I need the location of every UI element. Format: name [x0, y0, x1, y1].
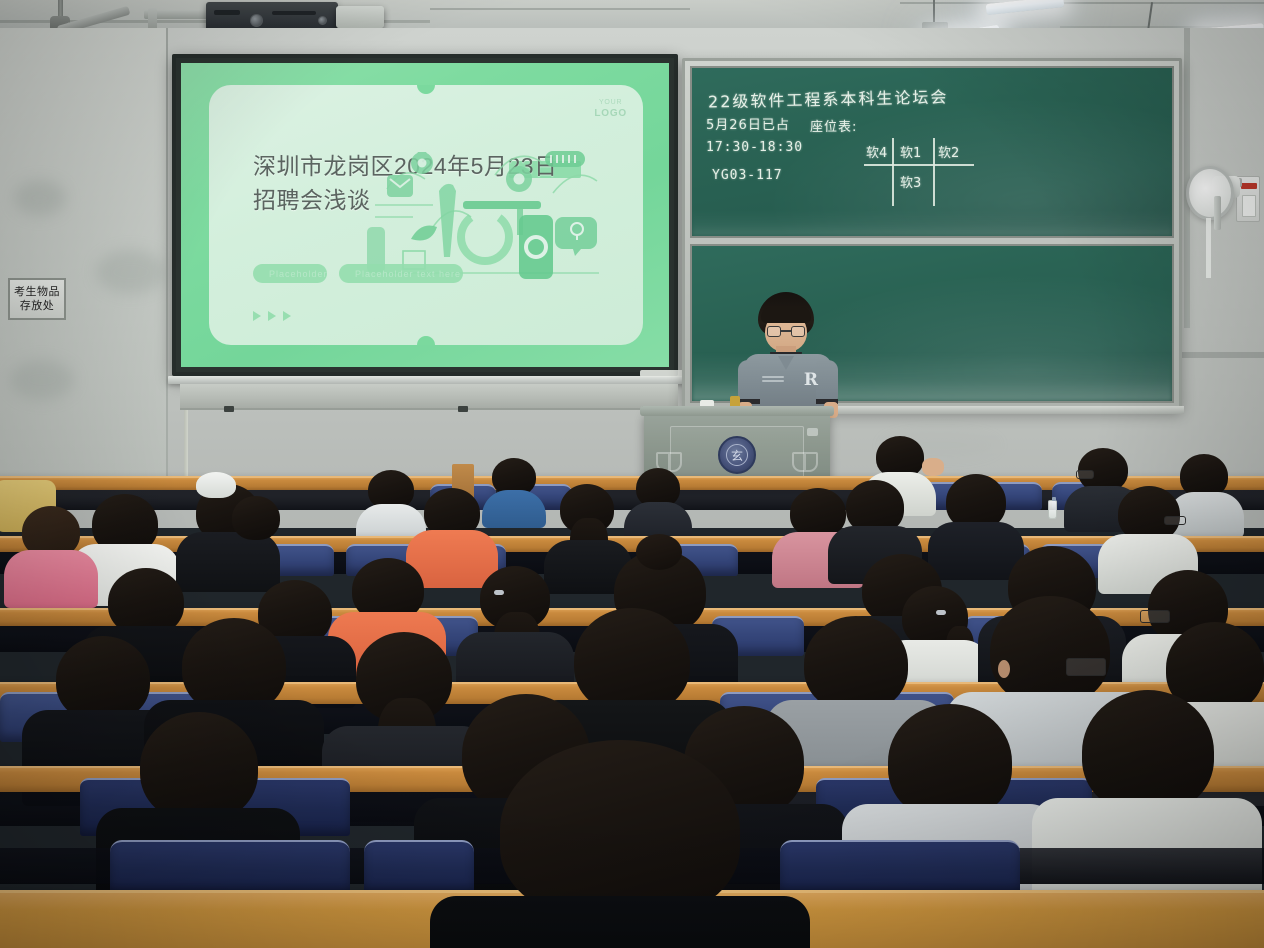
exam-storage-sign: 考生物品 存放处 — [8, 278, 66, 320]
sign-line-1: 考生物品 — [14, 285, 60, 299]
blackboard-seating-label: 座位表: — [810, 116, 857, 135]
blackboard-upper-panel: 22级软件工程系本科生论坛会 5月26日已占 17:30-18:30 YG03-… — [690, 66, 1174, 238]
wall-stain — [96, 250, 166, 294]
slide-pill-left-text: Placeholder — [269, 269, 328, 279]
presenter-shirt-logo: R — [804, 370, 818, 390]
logo-line-1: YOUR — [594, 99, 627, 108]
slide-pill-right-text: Placeholder text here — [355, 269, 461, 279]
projected-slide: YOUR LOGO 深圳市龙岗区2024年5月23日 招聘会浅谈 — [181, 63, 669, 367]
ceiling-seam — [900, 2, 1264, 4]
wall-stain — [10, 360, 74, 400]
audience-seating — [0, 440, 1264, 948]
presenter: R — [740, 292, 836, 416]
screen-rail — [180, 384, 678, 410]
lectern-knob[interactable] — [807, 428, 818, 436]
sign-line-2: 存放处 — [20, 299, 55, 313]
hair-clip — [494, 590, 504, 595]
grid-vline — [892, 138, 894, 206]
projector-bracket — [336, 6, 384, 28]
logo-line-2: LOGO — [594, 108, 627, 121]
presenter-shirt-tag — [762, 376, 784, 386]
blackboard-headline: 22级软件工程系本科生论坛会 — [708, 83, 949, 112]
chalk-tray-item — [640, 370, 686, 377]
seat-cell-1: 软4 — [866, 142, 887, 161]
presenter-glasses-icon — [767, 326, 805, 337]
projection-screen: YOUR LOGO 深圳市龙岗区2024年5月23日 招聘会浅谈 — [172, 54, 678, 376]
screen-ledge — [168, 376, 686, 384]
blackboard-date: 5月26日已占 — [706, 114, 790, 133]
slide-logo: YOUR LOGO — [594, 99, 627, 120]
seat-cell-3: 软2 — [938, 142, 959, 161]
slide-markers — [253, 311, 291, 321]
blackboard-time: 17:30-18:30 — [706, 140, 803, 155]
classroom-scene: 考生物品 存放处 YOUR LOGO 深圳市龙岗区2024年5月2 — [0, 0, 1264, 948]
seat-cell-2: 软1 — [900, 142, 921, 161]
white-cap — [196, 472, 236, 498]
grid-vline — [933, 138, 935, 206]
projector-mount-arm — [148, 8, 157, 30]
slide-card: YOUR LOGO 深圳市龙岗区2024年5月23日 招聘会浅谈 — [209, 85, 643, 345]
seat-cell-4: 软3 — [900, 172, 921, 191]
water-bottle — [1048, 500, 1057, 519]
grid-hline — [864, 164, 974, 166]
blackboard-room: YG03-117 — [712, 168, 783, 183]
ceiling-seam — [430, 8, 690, 10]
wall-stain — [14, 180, 66, 216]
